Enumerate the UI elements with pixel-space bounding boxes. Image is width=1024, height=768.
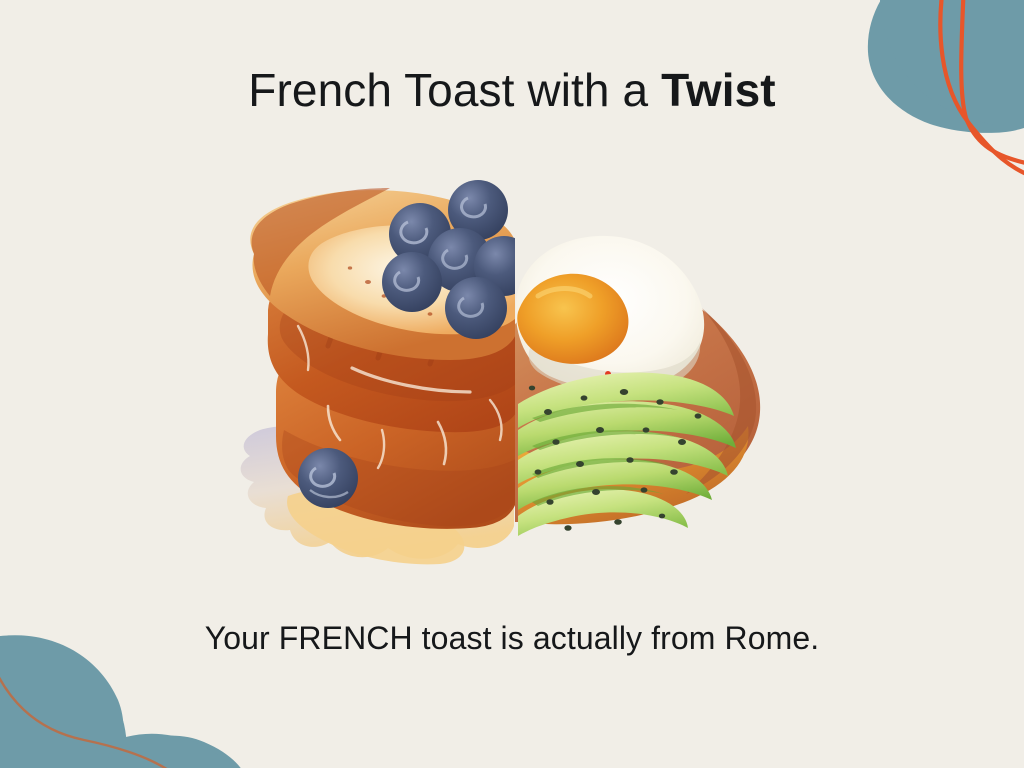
copper-curve-line [0, 648, 206, 768]
avocado-toast-half [514, 236, 760, 536]
teal-blob-bottom-left-lobe [96, 734, 260, 768]
blueberry-in-syrup [298, 448, 358, 508]
caption-text: Your FRENCH toast is actually from Rome. [0, 617, 1024, 659]
page-title-emphasis: Twist [661, 64, 776, 116]
title-block: French Toast with a Twist [0, 62, 1024, 118]
french-toast-half [241, 180, 534, 564]
page-title-lead: French Toast with a [248, 64, 661, 116]
slide-canvas: French Toast with a Twist [0, 0, 1024, 768]
avocado-fan [518, 372, 736, 536]
blueberry [445, 277, 507, 339]
split-toast-illustration [232, 130, 792, 600]
caption-block: Your FRENCH toast is actually from Rome. [0, 617, 1024, 659]
page-title: French Toast with a Twist [0, 62, 1024, 118]
split-toast-illustration-svg [232, 130, 792, 600]
blueberry [382, 252, 442, 312]
